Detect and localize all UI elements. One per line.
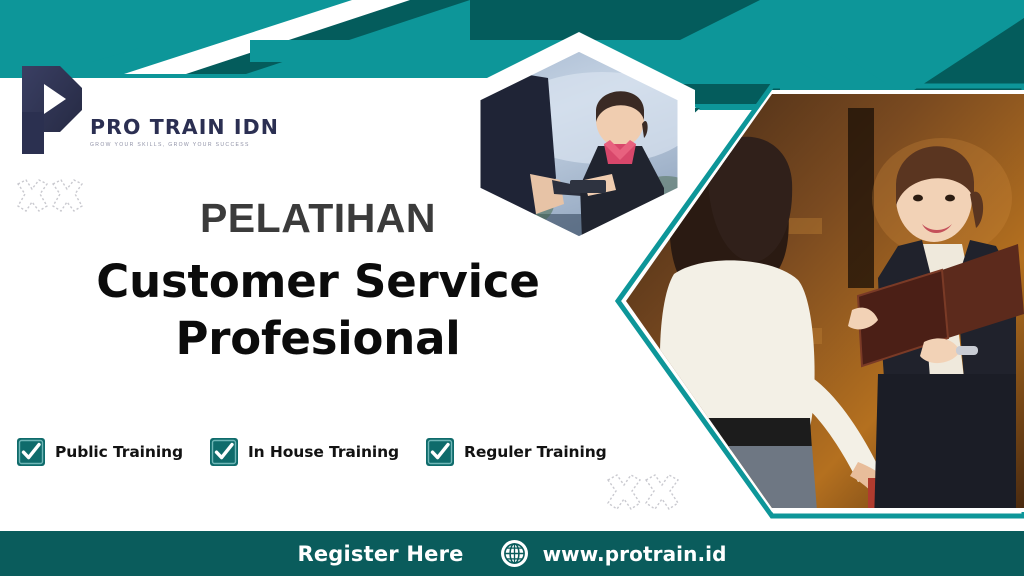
checkbox-checked-icon[interactable] <box>16 437 46 467</box>
photo-staff-greeting-guest <box>612 78 1024 524</box>
headline-title-line1: Customer Service <box>0 254 636 311</box>
globe-icon <box>500 539 529 568</box>
training-option-public[interactable]: Public Training <box>16 437 183 467</box>
brand-logo: PRO TRAIN IDN GROW YOUR SKILLS, GROW YOU… <box>14 62 279 158</box>
website-link[interactable]: www.protrain.id <box>500 539 727 568</box>
training-option-label: Reguler Training <box>464 443 607 461</box>
headline-kicker: PELATIHAN <box>0 196 636 242</box>
footer-bar: Register Here www.protrain.id <box>0 531 1024 576</box>
training-option-reguler[interactable]: Reguler Training <box>425 437 607 467</box>
promo-banner: PRO TRAIN IDN GROW YOUR SKILLS, GROW YOU… <box>0 0 1024 576</box>
protrain-arrow-logo-icon <box>14 62 88 158</box>
training-option-label: Public Training <box>55 443 183 461</box>
website-url: www.protrain.id <box>543 542 727 566</box>
brand-name: PRO TRAIN IDN <box>90 117 279 138</box>
headline-title-line2: Profesional <box>0 311 636 368</box>
training-options-list: Public Training In House Training Regule… <box>16 437 607 467</box>
checkbox-checked-icon[interactable] <box>209 437 239 467</box>
training-option-label: In House Training <box>248 443 399 461</box>
register-here-cta[interactable]: Register Here <box>297 542 463 566</box>
checkbox-checked-icon[interactable] <box>425 437 455 467</box>
headline-block: PELATIHAN Customer Service Profesional <box>0 196 636 367</box>
brand-tagline: GROW YOUR SKILLS, GROW YOUR SUCCESS <box>90 142 279 148</box>
training-option-in-house[interactable]: In House Training <box>209 437 399 467</box>
